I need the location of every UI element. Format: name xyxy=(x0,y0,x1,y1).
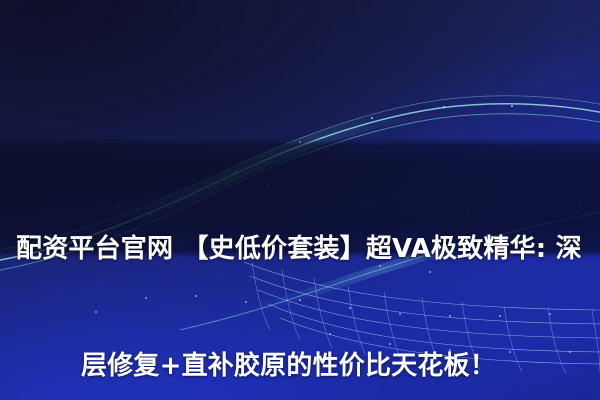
headline-line-2: 层修复+直补胶原的性价比天花板！ xyxy=(16,347,584,386)
banner-headline: 配资平台官网 【史低价套装】超VA极致精华: 深 层修复+直补胶原的性价比天花板… xyxy=(0,152,600,400)
banner-image: 配资平台官网 【史低价套装】超VA极致精华: 深 层修复+直补胶原的性价比天花板… xyxy=(0,0,600,400)
headline-line-1: 配资平台官网 【史低价套装】超VA极致精华: 深 xyxy=(16,230,584,269)
